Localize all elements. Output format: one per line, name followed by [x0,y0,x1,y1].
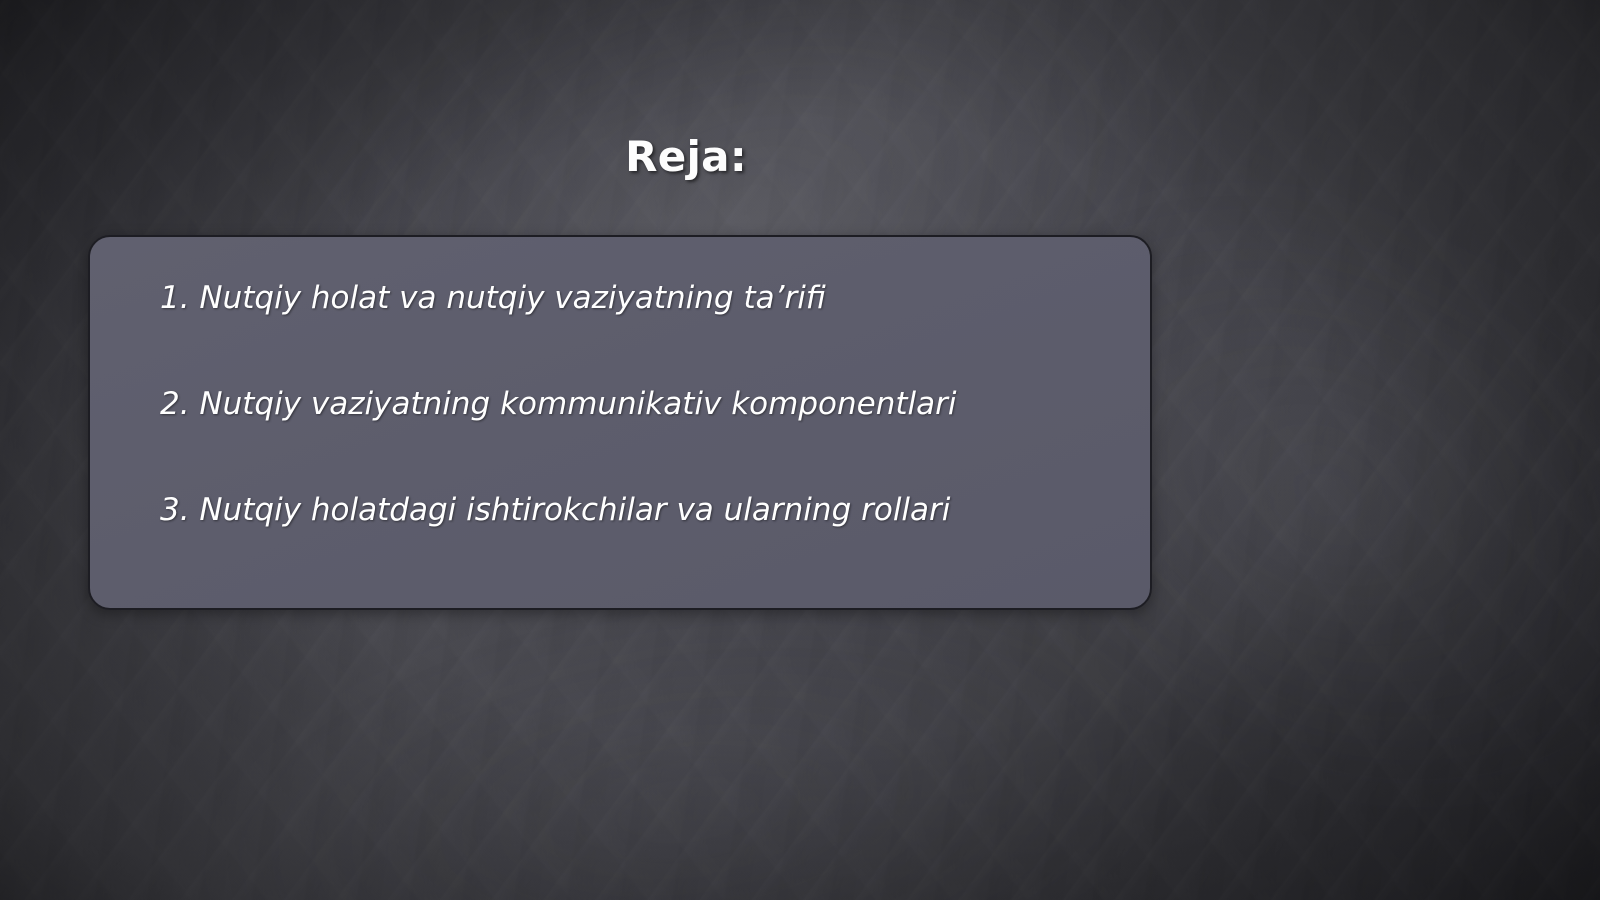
list-item: 3. Nutqiy holatdagi ishtirokchilar va ul… [160,491,1094,530]
plan-panel: 1. Nutqiy holat va nutqiy vaziyatning ta… [88,235,1152,610]
slide-content: Reja: 1. Nutqiy holat va nutqiy vaziyatn… [0,0,1600,900]
list-item: 2. Nutqiy vaziyatning kommunikativ kompo… [160,385,1094,424]
list-item: 1. Nutqiy holat va nutqiy vaziyatning ta… [160,279,1094,318]
page-title: Reja: [0,132,1372,181]
presentation-slide: Reja: 1. Nutqiy holat va nutqiy vaziyatn… [0,0,1600,900]
plan-list: 1. Nutqiy holat va nutqiy vaziyatning ta… [160,279,1094,529]
